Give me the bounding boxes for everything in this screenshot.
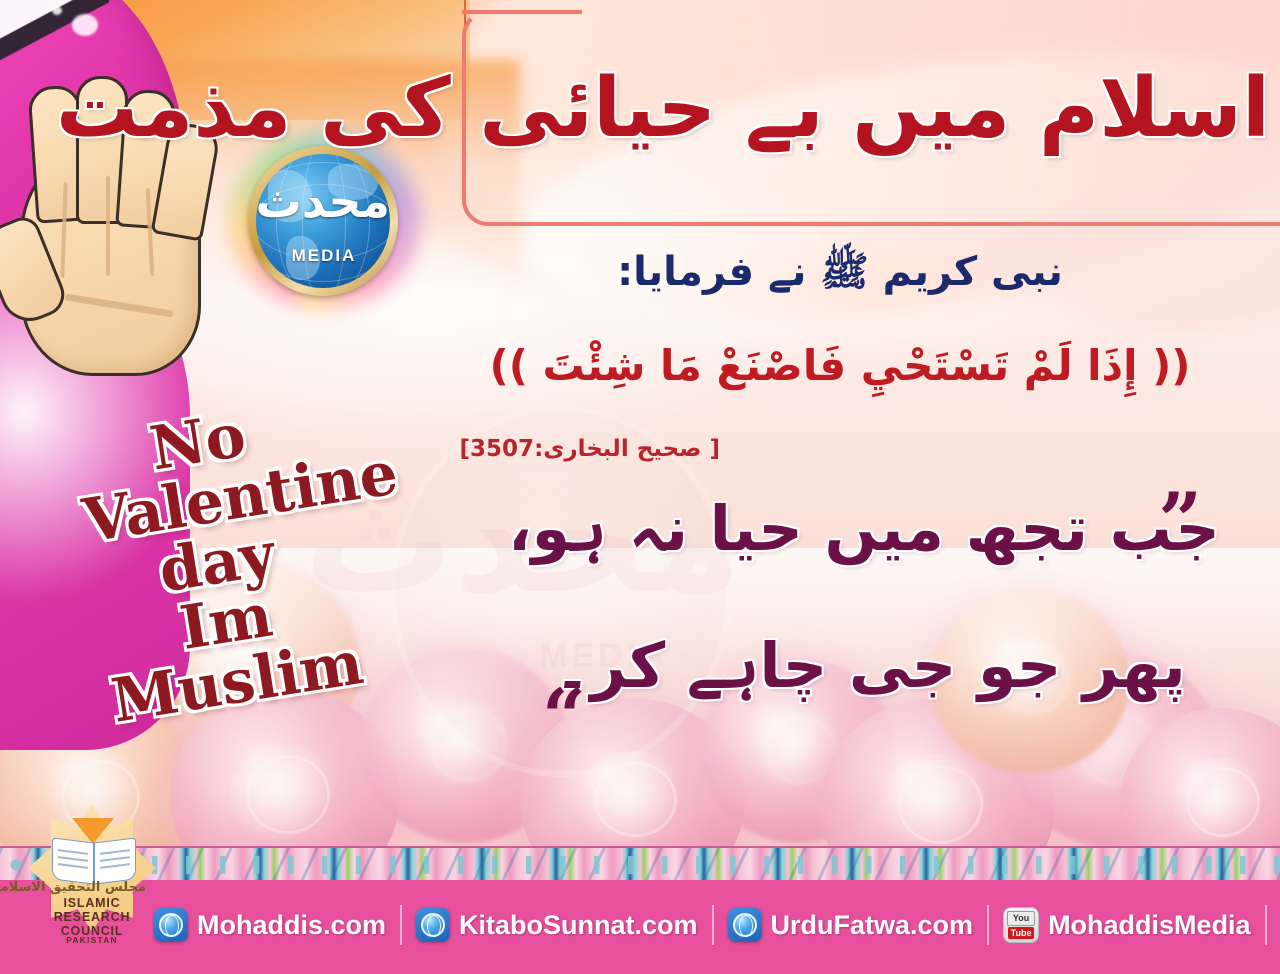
footer-link-label: UrduFatwa.com bbox=[771, 910, 974, 941]
globe-icon bbox=[728, 908, 762, 942]
logo-arabic-text: محدث bbox=[258, 178, 390, 224]
hand-crease bbox=[106, 176, 110, 276]
decorative-floral-border bbox=[0, 846, 1280, 884]
quote-open-mark: ” bbox=[1158, 476, 1202, 565]
footer-link-label: KitaboSunnat.com bbox=[459, 910, 698, 941]
hijab-highlight-dot bbox=[72, 14, 98, 36]
footer-link-facebook[interactable]: f MohaddisMedia bbox=[1267, 906, 1280, 944]
arabic-hadith-text: (( إِذَا لَمْ تَسْتَحْيِ فَاصْنَعْ مَا ش… bbox=[470, 338, 1210, 395]
footer-link-urdufatwa[interactable]: UrduFatwa.com bbox=[714, 908, 988, 942]
youtube-icon: You Tube bbox=[1003, 907, 1039, 943]
poster-canvas: محدث MEDIA bbox=[0, 0, 1280, 974]
book-left-page bbox=[52, 837, 94, 884]
book-right-page bbox=[94, 837, 136, 884]
urdu-translation-line-2: پھر جو جی چاہے کر۔ bbox=[520, 619, 1220, 712]
youtube-icon-bottom-text: Tube bbox=[1008, 927, 1034, 939]
islamic-research-council-badge: مجلس التحقیق الاسلامی ISLAMIC RESEARCH C… bbox=[28, 804, 156, 932]
page-title: اسلام میں بے حیائی کی مذمت bbox=[470, 58, 1270, 198]
badge-line-2: RESEARCH bbox=[36, 910, 148, 924]
globe-icon bbox=[154, 908, 188, 942]
logo-media-text: MEDIA bbox=[258, 246, 390, 266]
no-valentine-slogan: No Valentine day Im Muslim bbox=[70, 394, 364, 731]
mohaddis-media-logo: محدث MEDIA bbox=[240, 142, 408, 300]
hijab-highlight-dot bbox=[52, 6, 62, 15]
badge-english-text: ISLAMIC RESEARCH COUNCIL bbox=[36, 896, 148, 938]
footer-link-list: Mohaddis.com KitaboSunnat.com UrduFatwa.… bbox=[140, 894, 1280, 956]
urdu-translation-line-1: جب تجھ میں حیا نہ ہو، bbox=[520, 482, 1220, 575]
footer-link-mohaddis[interactable]: Mohaddis.com bbox=[140, 908, 400, 942]
globe-icon bbox=[416, 908, 450, 942]
hadith-reference: [ صحیح البخاری:3507] bbox=[470, 436, 720, 462]
narrator-line: نبی کریم ﷺ نے فرمایا: bbox=[520, 246, 1160, 298]
footer-link-kitabosunnat[interactable]: KitaboSunnat.com bbox=[402, 908, 712, 942]
badge-line-1: ISLAMIC bbox=[36, 896, 148, 910]
badge-arabic-text: مجلس التحقیق الاسلامی bbox=[38, 880, 146, 895]
footer-link-label: MohaddisMedia bbox=[1048, 910, 1251, 941]
footer-link-youtube[interactable]: You Tube MohaddisMedia bbox=[989, 907, 1265, 943]
footer-link-label: Mohaddis.com bbox=[197, 910, 386, 941]
footer-bar: Mohaddis.com KitaboSunnat.com UrduFatwa.… bbox=[0, 880, 1280, 974]
title-frame-top-edge bbox=[462, 10, 582, 14]
open-book-icon bbox=[52, 840, 134, 880]
urdu-translation-block: ” جب تجھ میں حیا نہ ہو، پھر جو جی چاہے ک… bbox=[520, 482, 1220, 812]
badge-country-text: PAKISTAN bbox=[36, 935, 148, 945]
quote-close-mark: “ bbox=[542, 672, 586, 761]
youtube-icon-top-text: You bbox=[1007, 911, 1035, 926]
